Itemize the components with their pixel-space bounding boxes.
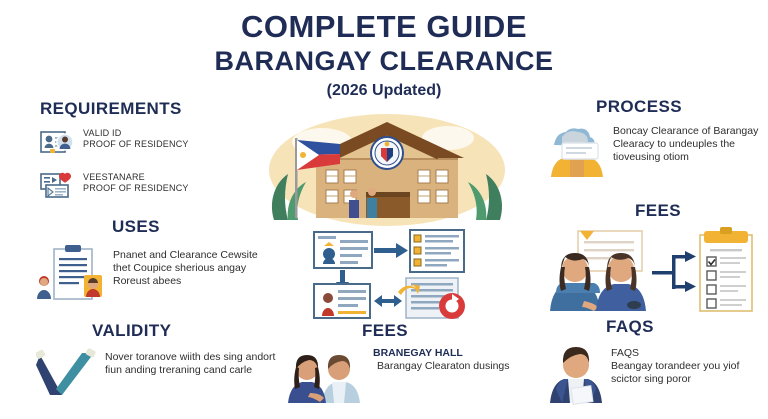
fees-right-heading: FEES — [548, 202, 768, 219]
document-process-flowchart — [312, 228, 497, 320]
requirements-item-1-line2: PROOF OF RESIDENCY — [83, 139, 189, 149]
requirements-item-2-text: VEESTANARE PROOF OF RESIDENCY — [83, 172, 189, 195]
fees-center-body: BRANEGAY HALL Barangay Clearaton dusings — [286, 345, 521, 410]
requirements-item-1: VALID ID PROOF OF RESIDENCY — [40, 128, 275, 161]
section-requirements: REQUIREMENTS VALID ID PROOF OF RESIDENCY — [40, 100, 275, 205]
uses-heading: USES — [112, 218, 276, 235]
flow-document-refresh — [398, 278, 465, 319]
title-line-1: COMPLETE GUIDE — [0, 10, 768, 43]
two-women-checklist-icon — [548, 225, 758, 317]
uses-body: Pnanet and Clearance Cewsite thet Coupic… — [36, 243, 276, 310]
validity-text: Nover toranove wiith des sing andort fiu… — [105, 347, 276, 377]
flow-arrow-right-top — [374, 243, 408, 258]
requirements-item-2: VEESTANARE PROOF OF RESIDENCY — [40, 172, 275, 205]
requirements-heading: REQUIREMENTS — [40, 100, 275, 117]
section-fees-center: FEES — [286, 322, 521, 410]
barangay-seal-icon — [371, 137, 403, 169]
faqs-heading: FAQS — [606, 318, 768, 335]
section-validity: VALIDITY Nover toranove wiith des sing a… — [36, 322, 276, 406]
id-card-person-icon — [40, 128, 76, 161]
process-body: Boncay Clearance of Barangay Clearacy to… — [548, 123, 768, 184]
two-women-icon — [286, 345, 366, 410]
woman-light-blue — [322, 355, 360, 403]
page-title: COMPLETE GUIDE BARANGAY CLEARANCE (2026 … — [0, 10, 768, 100]
checkmark-icon — [36, 347, 98, 406]
fees-center-label: BRANEGAY HALL — [373, 347, 463, 359]
process-text: Boncay Clearance of Barangay Clearacy to… — [613, 123, 768, 163]
fees-center-description: Barangay Clearaton dusings — [373, 360, 510, 373]
woman-navy — [288, 355, 326, 403]
requirements-item-2-line2: PROOF OF RESIDENCY — [83, 183, 189, 193]
flow-id-card-bottom — [314, 284, 370, 318]
section-fees-right: FEES — [548, 202, 768, 322]
section-process: PROCESS Boncay Clearance of Barangay Cle… — [548, 98, 768, 184]
document-heart-icon — [40, 172, 76, 205]
title-line-2: BARANGAY CLEARANCE — [0, 45, 768, 77]
section-uses: USES Pnanet and Clearance Cewsite thet C… — [36, 218, 276, 310]
faqs-description: Beangay torandeer you yiof scictor sing … — [611, 360, 739, 385]
flow-id-card-top — [314, 232, 372, 268]
clipboard-people-icon — [36, 243, 106, 310]
faqs-text: FAQS Beangay torandeer you yiof scictor … — [611, 343, 768, 385]
validity-heading: VALIDITY — [92, 322, 276, 339]
fees-right-illustration — [548, 225, 768, 322]
validity-body: Nover toranove wiith des sing andort fiu… — [36, 347, 276, 406]
person-holding-document-icon — [548, 123, 606, 184]
faqs-body: FAQS Beangay torandeer you yiof scictor … — [548, 343, 768, 410]
requirements-item-1-text: VALID ID PROOF OF RESIDENCY — [83, 128, 189, 151]
fees-center-text: BRANEGAY HALL Barangay Clearaton dusings — [373, 345, 510, 373]
requirements-item-2-line1: VEESTANARE — [83, 172, 145, 182]
fees-center-heading: FEES — [362, 322, 521, 339]
process-heading: PROCESS — [596, 98, 768, 115]
fees-arrows — [652, 251, 696, 292]
section-faqs: FAQS FAQS Beangay torandeer you yiof sci… — [548, 318, 768, 410]
flow-checklist — [410, 230, 464, 272]
faqs-label: FAQS — [611, 347, 639, 359]
infographic-page: COMPLETE GUIDE BARANGAY CLEARANCE (2026 … — [0, 0, 768, 419]
barangay-hall-svg — [262, 108, 512, 226]
uses-text: Pnanet and Clearance Cewsite thet Coupic… — [113, 243, 276, 287]
requirements-item-1-line1: VALID ID — [83, 128, 121, 138]
flow-arrow-double — [374, 295, 402, 307]
barangay-hall-illustration — [262, 108, 512, 226]
fees-clipboard — [700, 227, 752, 311]
flowchart-svg — [312, 228, 497, 320]
man-with-paper-icon — [548, 343, 604, 410]
